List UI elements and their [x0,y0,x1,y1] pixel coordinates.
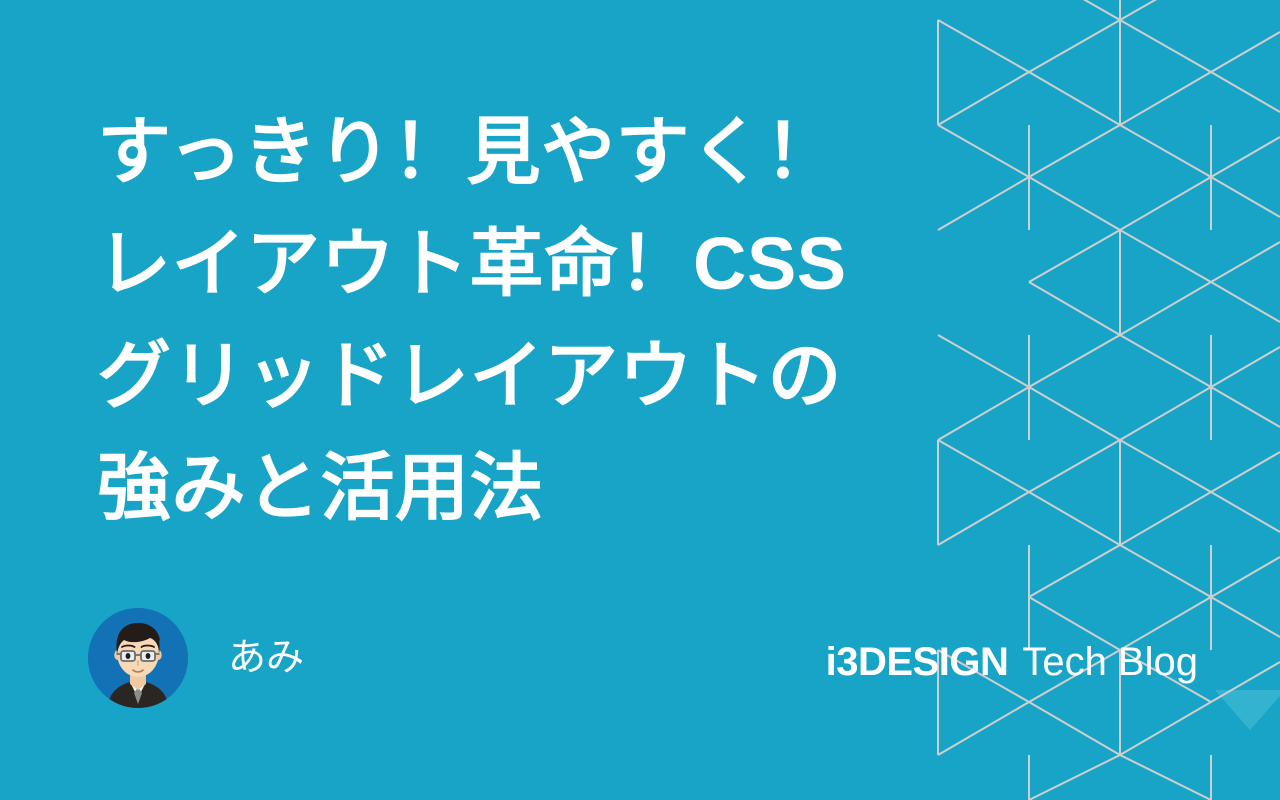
avatar [88,608,188,708]
ogp-card: すっきり！見やすく！ レイアウト革命！CSS グリッドレイアウトの 強みと活用法 [0,0,1280,800]
brand-subtitle: Tech Blog [1022,640,1198,685]
person-avatar-icon [88,608,188,708]
brand-name: i3DESIGN [826,640,1009,685]
author-block: あみ [88,608,304,708]
article-title: すっきり！見やすく！ レイアウト革命！CSS グリッドレイアウトの 強みと活用法 [97,96,927,544]
title-line-4: 強みと活用法 [97,432,927,544]
title-line-1: すっきり！見やすく！ [97,96,927,208]
brand-logo: i3DESIGN Tech Blog [826,640,1198,685]
author-name: あみ [228,639,304,677]
title-line-3: グリッドレイアウトの [97,320,927,432]
title-line-2: レイアウト革命！CSS [97,208,927,320]
cube-pattern-fill [1215,690,1280,730]
